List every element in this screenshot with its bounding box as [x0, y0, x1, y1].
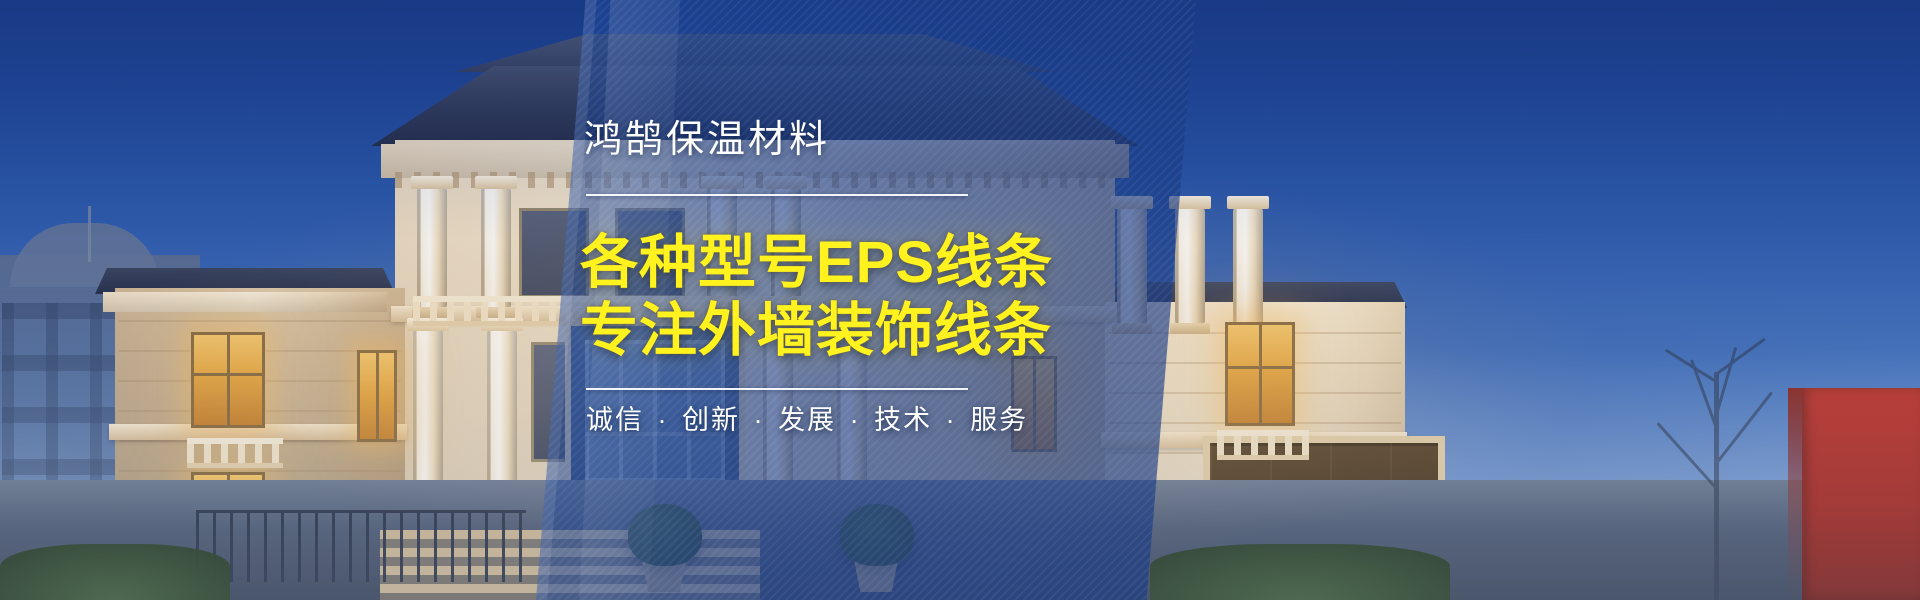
divider-bottom [586, 388, 968, 390]
middle-dot-icon: · [654, 405, 673, 435]
middle-dot-icon: · [750, 405, 769, 435]
headline-line-2: 专注外墙装饰线条 [580, 283, 1052, 367]
tagline-item: 技术 [874, 405, 932, 435]
middle-dot-icon: · [942, 405, 961, 435]
tagline-item: 服务 [970, 405, 1028, 435]
tagline-item: 创新 [682, 405, 740, 435]
banner-content: 鸿鹄保温材料 各种型号EPS线条 专注外墙装饰线条 诚信 · 创新 · 发展 ·… [560, 0, 1030, 600]
middle-dot-icon: · [846, 405, 865, 435]
promo-banner: 鸿鹄保温材料 各种型号EPS线条 专注外墙装饰线条 诚信 · 创新 · 发展 ·… [0, 0, 1920, 600]
divider-top [586, 194, 968, 196]
tagline: 诚信 · 创新 · 发展 · 技术 · 服务 [586, 398, 1028, 437]
tagline-item: 发展 [778, 405, 836, 435]
tagline-item: 诚信 [586, 405, 644, 435]
brand-name: 鸿鹄保温材料 [584, 108, 830, 163]
